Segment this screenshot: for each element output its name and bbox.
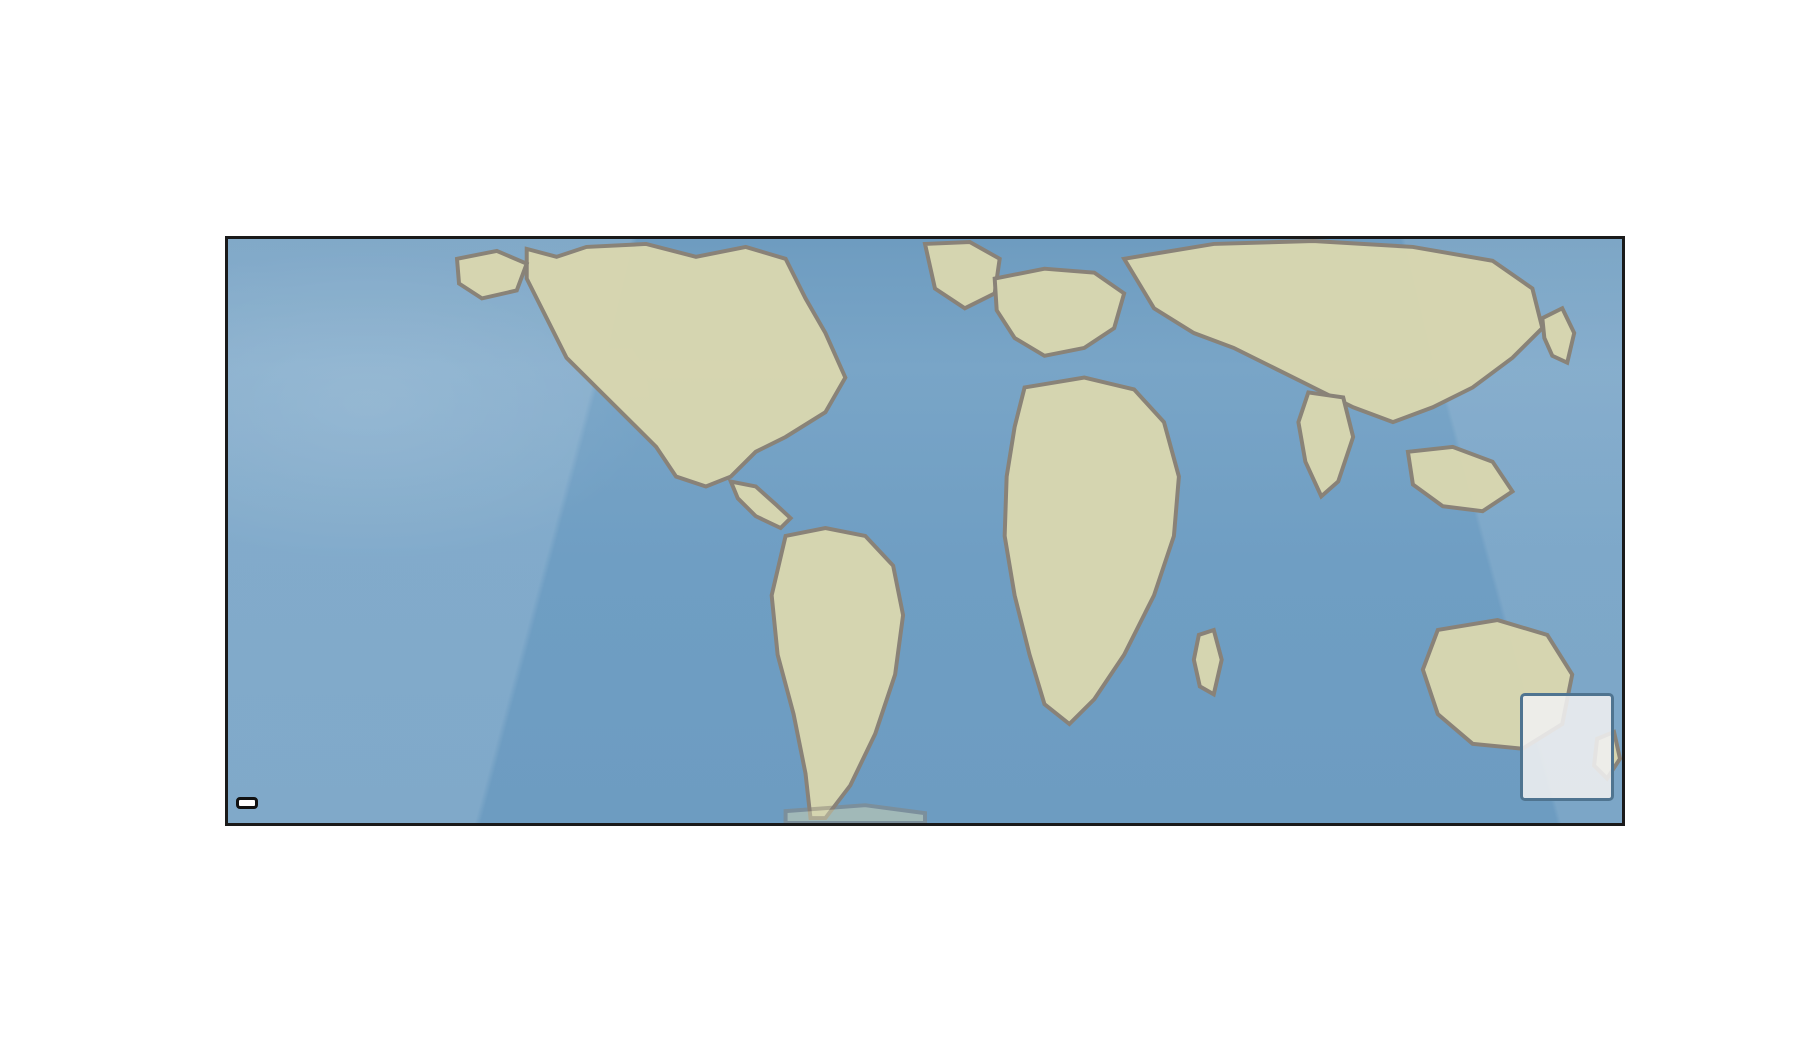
- legend-item-possibly-clear[interactable]: [1533, 734, 1599, 760]
- legend-item-no-specification[interactable]: [1533, 763, 1599, 789]
- title-block: [0, 0, 1800, 38]
- y-axis-title: [18, 236, 74, 826]
- legend-item-probably-clear[interactable]: [1533, 705, 1599, 731]
- band-fill-group: [228, 239, 1622, 823]
- scintillation-band-layer: [228, 239, 1622, 823]
- map-legend[interactable]: [1520, 693, 1614, 801]
- legend-swatch-no-specification: [1533, 763, 1587, 789]
- legend-swatch-probably-clear: [1533, 705, 1587, 731]
- legend-swatch-possibly-clear: [1533, 734, 1587, 760]
- frequency-validity-note: [236, 797, 258, 809]
- scintillation-map-plot[interactable]: [225, 236, 1625, 826]
